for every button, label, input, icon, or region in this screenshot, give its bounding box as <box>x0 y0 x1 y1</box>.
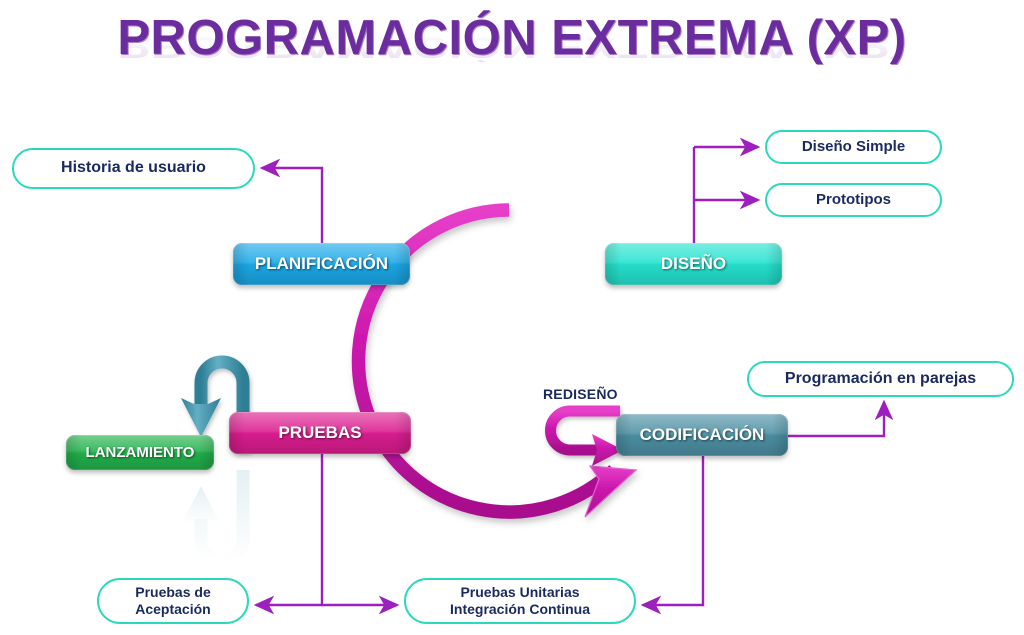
connector-pruebas-bottom <box>256 454 397 605</box>
phase-codificacion-label: CODIFICACIÓN <box>640 425 765 445</box>
bevel-right <box>766 243 782 285</box>
practice-pruebas-de-aceptacion[interactable]: Pruebas de Aceptación <box>97 578 249 624</box>
bevel-right <box>198 435 214 470</box>
practice-programacion-en-parejas[interactable]: Programación en parejas <box>747 361 1014 397</box>
practice-historia-de-usuario[interactable]: Historia de usuario <box>12 148 255 189</box>
connector-planificacion-historia <box>262 168 322 243</box>
bevel-left <box>605 243 621 285</box>
connector-codificacion-unitarias <box>643 456 703 605</box>
practice-prototipos-label: Prototipos <box>816 191 891 209</box>
practice-unitarias-label: Pruebas Unitarias Integración Continua <box>450 584 590 617</box>
practice-aceptacion-label: Pruebas de Aceptación <box>135 584 210 617</box>
phase-pruebas-label: PRUEBAS <box>278 423 361 443</box>
connector-layer <box>0 0 1024 635</box>
phase-diseno[interactable]: DISEÑO <box>605 243 782 285</box>
practice-aceptacion-line1: Pruebas de <box>135 584 210 600</box>
bevel-right <box>772 414 788 456</box>
practice-parejas-label: Programación en parejas <box>785 370 976 389</box>
bevel-left <box>229 412 245 454</box>
practice-pruebas-unitarias[interactable]: Pruebas Unitarias Integración Continua <box>404 578 636 624</box>
practice-unitarias-line2: Integración Continua <box>450 601 590 617</box>
phase-lanzamiento[interactable]: LANZAMIENTO <box>66 435 214 470</box>
practice-aceptacion-line2: Aceptación <box>135 601 210 617</box>
practice-prototipos[interactable]: Prototipos <box>765 183 942 217</box>
diagram-canvas: PROGRAMACIÓN EXTREMA (XP) PROGRAMACIÓN E… <box>0 0 1024 635</box>
connector-codificacion-parejas <box>788 402 884 436</box>
phase-diseno-label: DISEÑO <box>661 254 726 274</box>
connector-diseno-practices <box>694 147 758 243</box>
practice-historia-label: Historia de usuario <box>61 159 206 178</box>
phase-pruebas[interactable]: PRUEBAS <box>229 412 411 454</box>
bevel-right <box>395 412 411 454</box>
bevel-left <box>616 414 632 456</box>
phase-codificacion[interactable]: CODIFICACIÓN <box>616 414 788 456</box>
practice-diseno-simple[interactable]: Diseño Simple <box>765 130 942 164</box>
practice-diseno-simple-label: Diseño Simple <box>802 138 905 156</box>
release-arrow-reflection <box>181 470 243 561</box>
rediseno-label: REDISEÑO <box>543 386 618 402</box>
bevel-left <box>233 243 249 285</box>
bevel-right <box>394 243 410 285</box>
practice-unitarias-line1: Pruebas Unitarias <box>460 584 579 600</box>
phase-lanzamiento-label: LANZAMIENTO <box>86 444 195 461</box>
bevel-left <box>66 435 82 470</box>
u-turn-arrow-icon <box>551 411 624 466</box>
phase-planificacion[interactable]: PLANIFICACIÓN <box>233 243 410 285</box>
phase-planificacion-label: PLANIFICACIÓN <box>255 254 388 274</box>
